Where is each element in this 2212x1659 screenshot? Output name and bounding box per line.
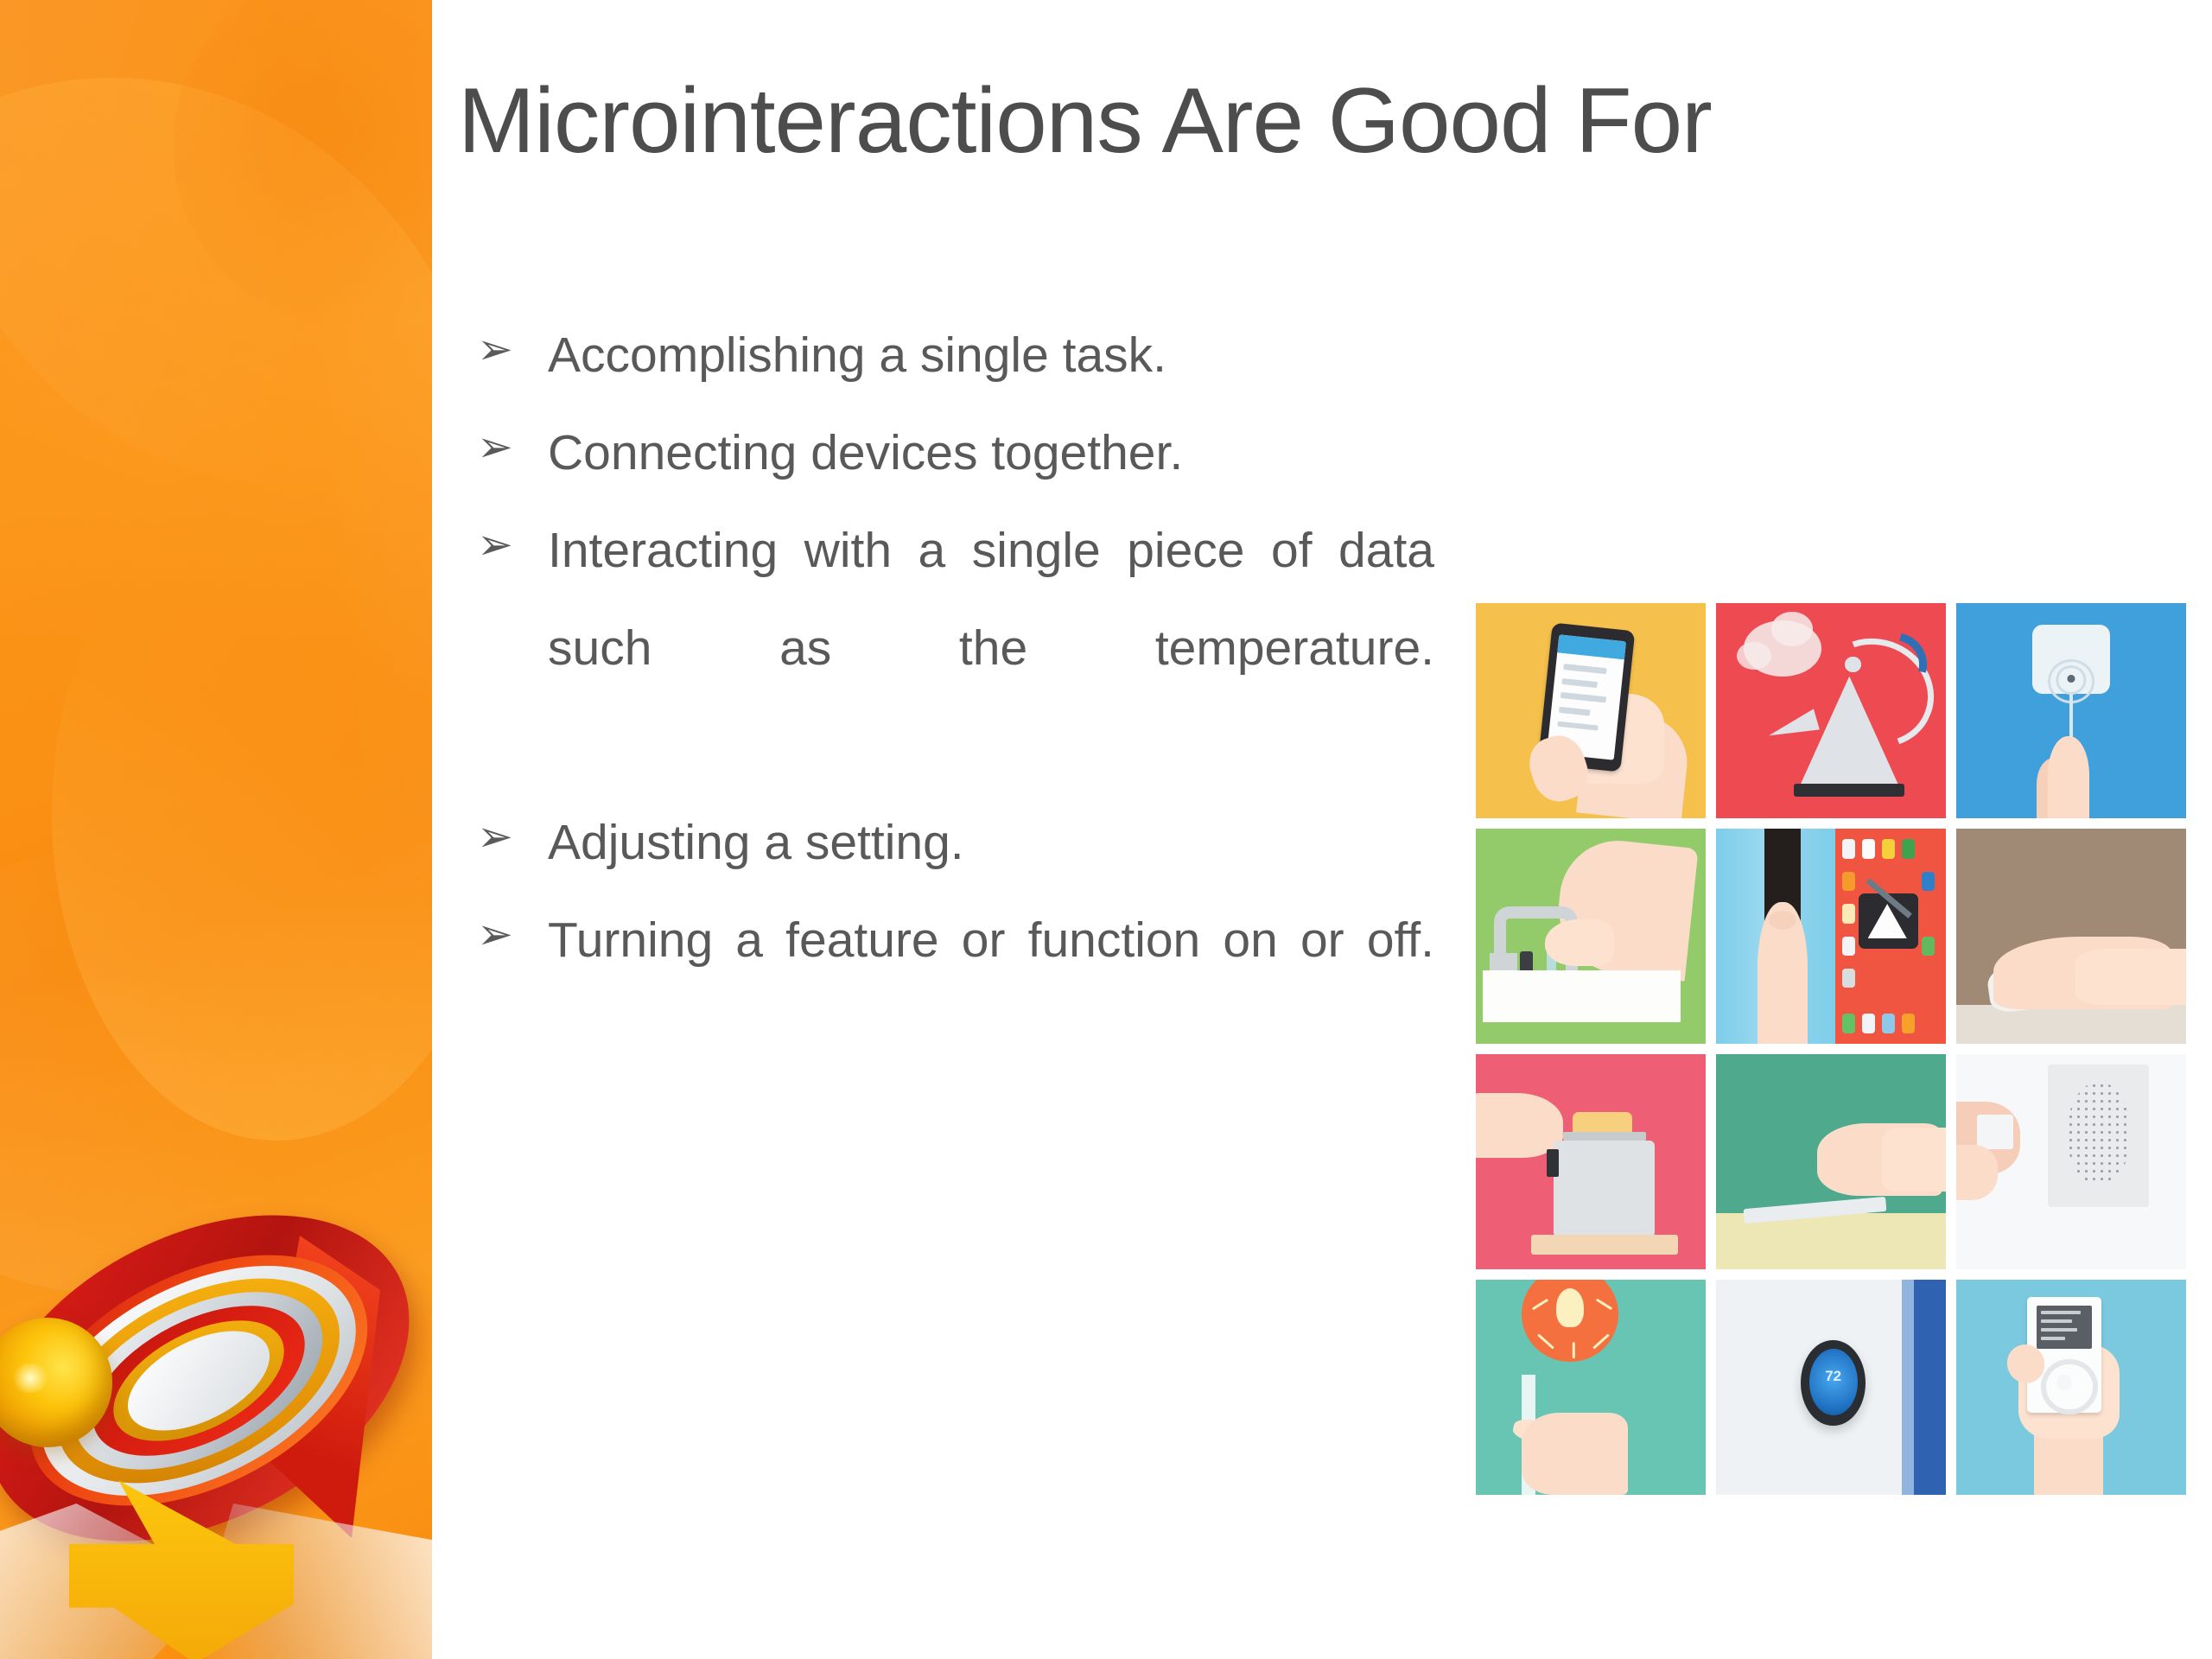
app-icon: [1922, 872, 1935, 891]
microinteraction-image-grid: 72: [1476, 603, 2186, 1495]
faucet-knob: [1520, 951, 1534, 973]
forearm-shape: [1882, 1128, 1946, 1192]
arrowhead-bullet-icon: ➢: [477, 404, 513, 490]
screen-line: [1560, 693, 1607, 703]
fingernail-shape: [1769, 911, 1796, 930]
wall-stripe-dark: [1914, 1280, 1946, 1495]
kettle-base: [1794, 784, 1904, 797]
arrowhead-bullet-icon: ➢: [477, 794, 513, 880]
app-icon: [1902, 1014, 1915, 1033]
app-icon: [1842, 969, 1855, 988]
hand-shape: [1522, 1413, 1627, 1495]
screen-line: [1561, 678, 1597, 688]
list-item-label: Adjusting a setting.: [548, 794, 1434, 892]
slide-content: Microinteractions Are Good For ➢ Accompl…: [432, 0, 2212, 1659]
decorative-sidebar: [0, 0, 432, 1659]
phone-apps-finger-tile: [1716, 829, 1946, 1044]
page-title: Microinteractions Are Good For: [458, 69, 2177, 173]
wall-stripe-light: [1902, 1280, 1913, 1495]
list-item-label: Connecting devices together.: [548, 404, 1434, 502]
toaster-lever: [1547, 1149, 1558, 1177]
desk-surface: [1956, 1005, 2186, 1044]
speaker-remote-tile: [1956, 1054, 2186, 1269]
status-bar: [1557, 635, 1626, 660]
app-icon: [1842, 937, 1855, 956]
arrowhead-bullet-icon: ➢: [477, 502, 513, 588]
light-switch-tile: [1476, 1280, 1706, 1495]
list-item-label: Interacting with a single piece of data …: [548, 502, 1434, 795]
finger-shape: [2048, 736, 2089, 818]
hand-shape: [1956, 1145, 1998, 1201]
laptop-typing-tile: [1716, 1054, 1946, 1269]
app-icon: [1922, 937, 1935, 956]
faucet-hand-tile: [1476, 829, 1706, 1044]
app-icon: [1842, 1014, 1855, 1033]
abstract-3d-rings-arrow-graphic: [0, 1132, 432, 1659]
remote-control-icon: [1977, 1115, 2014, 1149]
list-item: ➢ Turning a feature or function on or of…: [458, 892, 1434, 1087]
steaming-kettle-tile: [1716, 603, 1946, 818]
app-icon: [1842, 872, 1855, 891]
kettle-spout: [1764, 709, 1819, 743]
wall-sensor-tile: [1956, 603, 2186, 818]
arrowhead-bullet-icon: ➢: [477, 892, 513, 977]
list-item: ➢ Accomplishing a single task.: [458, 307, 1434, 404]
speaker-grille: [2067, 1082, 2131, 1185]
app-icon: [1882, 1014, 1895, 1033]
kettle-knob: [1845, 657, 1861, 671]
steam-puff-icon: [1771, 612, 1813, 646]
app-icon: [1842, 904, 1855, 923]
phone-in-hand-tile: [1476, 603, 1706, 818]
swirl-shape-2: [0, 78, 432, 985]
light-ray: [1573, 1342, 1575, 1358]
list-item-label: Turning a feature or function on or off.: [548, 892, 1434, 1087]
app-icon: [1862, 839, 1875, 858]
list-item-label: Accomplishing a single task.: [548, 307, 1434, 404]
sphere-highlight: [10, 1363, 50, 1393]
screen-line: [2041, 1328, 2077, 1332]
arrowhead-bullet-icon: ➢: [477, 307, 513, 392]
app-icon: [1882, 839, 1895, 858]
cutting-board: [1531, 1235, 1678, 1254]
screen-line: [1559, 707, 1591, 716]
list-item: ➢ Connecting devices together.: [458, 404, 1434, 502]
screen-line: [2041, 1319, 2072, 1323]
screen-line: [1557, 721, 1599, 732]
screen-line: [2041, 1311, 2081, 1314]
screen-line: [2041, 1337, 2065, 1340]
app-icon: [1902, 839, 1915, 858]
hand-shape: [1545, 919, 1614, 967]
app-icon: [1842, 839, 1855, 858]
toaster-tile: [1476, 1054, 1706, 1269]
toaster-icon: [1554, 1141, 1655, 1237]
computer-mouse-tile: [1956, 829, 2186, 1044]
swirl-shape-3: [0, 0, 432, 985]
light-bulb-icon: [1556, 1288, 1584, 1327]
app-icon: [1862, 1014, 1875, 1033]
sink-basin: [1483, 970, 1681, 1022]
toaster-slot: [1563, 1132, 1646, 1141]
player-screen: [2037, 1306, 2092, 1349]
swirl-shape-1: [0, 0, 432, 543]
music-player-tile: [1956, 1280, 2186, 1495]
screen-line: [1563, 664, 1607, 675]
forearm-shape: [2075, 949, 2186, 1005]
swirl-shape-4: [52, 484, 432, 1141]
list-item: ➢ Adjusting a setting.: [458, 794, 1434, 892]
bullet-list: ➢ Accomplishing a single task. ➢ Connect…: [458, 307, 1434, 1087]
thermostat-reading: 72: [1809, 1368, 1858, 1385]
steam-puff-icon: [1737, 642, 1771, 670]
list-item: ➢ Interacting with a single piece of dat…: [458, 502, 1434, 795]
thermostat-tile: 72: [1716, 1280, 1946, 1495]
swirl-shape-5: [173, 0, 432, 328]
